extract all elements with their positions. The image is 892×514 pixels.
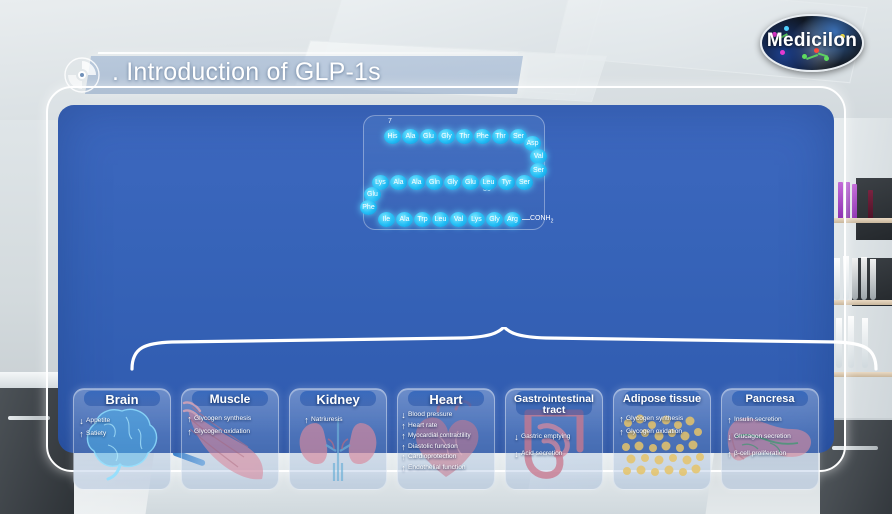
amino-acid-residue: Thr bbox=[492, 129, 509, 144]
item-label: β-cell proliferation bbox=[734, 450, 786, 458]
amino-acid-residue: Gln bbox=[426, 175, 443, 190]
list-item: ↑ β-cell proliferation bbox=[727, 450, 814, 458]
card-items: ↑ Natriuresis bbox=[304, 416, 382, 429]
item-label: Appetite bbox=[86, 417, 110, 425]
arrow-up-icon: ↑ bbox=[401, 453, 406, 461]
item-label: Endothelial function bbox=[408, 464, 466, 472]
item-label: Satiety bbox=[86, 430, 106, 438]
card-items: ↓ Gastric emptying ↓ Acid secretion bbox=[514, 433, 598, 463]
item-label: Heart rate bbox=[408, 422, 437, 430]
card-title: Muscle bbox=[182, 394, 278, 405]
card-title: Heart bbox=[398, 394, 494, 405]
arrow-up-icon: ↑ bbox=[79, 430, 84, 438]
logo-molecule-bond bbox=[806, 54, 818, 60]
arrow-down-icon: ↓ bbox=[514, 433, 519, 441]
terminus-label: CONH bbox=[530, 215, 551, 222]
arrow-down-icon: ↓ bbox=[79, 417, 84, 425]
item-label: Diastolic function bbox=[408, 443, 458, 451]
item-label: Gastric emptying bbox=[521, 433, 570, 441]
list-item: ↑ Glycogen synthesis bbox=[619, 415, 706, 423]
list-item: ↑ Glycogen synthesis bbox=[187, 415, 274, 423]
arrow-up-icon: ↑ bbox=[619, 428, 624, 436]
amino-acid-residue: Ser bbox=[516, 175, 533, 190]
arrow-down-icon: ↓ bbox=[514, 450, 519, 458]
list-item: ↓ Blood pressure bbox=[401, 411, 490, 419]
card-heart[interactable]: Heart ↓ Blood pressure ↑ Heart rate ↑ My… bbox=[397, 388, 495, 490]
arrow-up-icon: ↑ bbox=[727, 416, 732, 424]
arrow-down-icon: ↓ bbox=[727, 433, 732, 441]
card-items: ↓ Appetite ↑ Satiety bbox=[79, 417, 166, 442]
arrow-up-icon: ↑ bbox=[401, 422, 406, 430]
card-title: Pancresa bbox=[722, 394, 818, 405]
terminus-subscript: 2 bbox=[551, 218, 554, 224]
card-kidney[interactable]: Kidney ↑ Natriuresis bbox=[289, 388, 387, 490]
list-item: ↑ Heart rate bbox=[401, 422, 490, 430]
slide-canvas: . Introduction of GLP-1s Medicilon 7 36 … bbox=[0, 0, 892, 514]
list-item: ↓ Appetite bbox=[79, 417, 166, 425]
amino-acid-residue: Ile bbox=[378, 212, 395, 227]
glass-tube bbox=[861, 257, 867, 300]
item-label: Insulin secretion bbox=[734, 416, 782, 424]
logo-text: Medicilon bbox=[762, 30, 862, 52]
logo-molecule-bond bbox=[818, 52, 828, 57]
amino-acid-residue: Val bbox=[530, 149, 547, 164]
item-label: Acid secretion bbox=[521, 450, 562, 458]
peptide-c-terminus: CONH2 bbox=[530, 215, 553, 224]
glp1-peptide-diagram: 7 36 His Ala Glu Gly Thr Phe Thr Ser Asp… bbox=[363, 115, 545, 230]
item-label: Myocardial contractility bbox=[408, 432, 471, 440]
arrow-up-icon: ↑ bbox=[727, 450, 732, 458]
card-muscle[interactable]: Muscle ↑ Glycogen synthesis ↑ Glycogen o… bbox=[181, 388, 279, 490]
arrow-up-icon: ↑ bbox=[304, 416, 309, 424]
arrow-up-icon: ↑ bbox=[619, 415, 624, 423]
amino-acid-residue: Gly bbox=[438, 129, 455, 144]
list-item: ↑ Insulin secretion bbox=[727, 416, 814, 424]
list-item: ↑ Glycogen oxidation bbox=[187, 428, 274, 436]
card-title: Brain bbox=[74, 394, 170, 405]
card-items: ↑ Insulin secretion ↓ Glucagon secretion… bbox=[727, 416, 814, 463]
amino-acid-residue: Thr bbox=[456, 129, 473, 144]
arrow-up-icon: ↑ bbox=[401, 464, 406, 472]
card-gastrointestinal-tract[interactable]: Gastrointestinal tract ↓ Gastric emptyin… bbox=[505, 388, 603, 490]
list-item: ↑ Diastolic function bbox=[401, 443, 490, 451]
amino-acid-residue: His bbox=[384, 129, 401, 144]
peptide-start-number: 7 bbox=[388, 118, 392, 125]
amino-acid-residue: Ser bbox=[530, 163, 547, 178]
item-label: Glycogen synthesis bbox=[626, 415, 683, 423]
amino-acid-residue: Gly bbox=[444, 175, 461, 190]
item-label: Cardioprotection bbox=[408, 453, 456, 461]
card-title: Kidney bbox=[290, 394, 386, 405]
amino-acid-residue: Ala bbox=[396, 212, 413, 227]
list-item: ↓ Glucagon secretion bbox=[727, 433, 814, 441]
medicilon-logo[interactable]: Medicilon bbox=[760, 14, 864, 72]
peptide-terminus-link bbox=[522, 219, 530, 220]
amino-acid-residue: Phe bbox=[360, 200, 377, 215]
amino-acid-residue: Ala bbox=[390, 175, 407, 190]
amino-acid-residue: Glu bbox=[420, 129, 437, 144]
amino-acid-residue: Val bbox=[450, 212, 467, 227]
brace-connector bbox=[128, 327, 880, 371]
card-title: Gastrointestinal tract bbox=[506, 394, 602, 416]
list-item: ↑ Natriuresis bbox=[304, 416, 382, 424]
item-label: Blood pressure bbox=[408, 411, 452, 419]
list-item: ↓ Gastric emptying bbox=[514, 433, 598, 441]
amino-acid-residue: Lys bbox=[468, 212, 485, 227]
reagent-vial bbox=[852, 184, 857, 220]
list-item: ↑ Glycogen oxidation bbox=[619, 428, 706, 436]
amino-acid-residue: Trp bbox=[414, 212, 431, 227]
page-title: . Introduction of GLP-1s bbox=[112, 58, 381, 87]
shelf-recess-1 bbox=[856, 178, 892, 240]
arrow-up-icon: ↑ bbox=[187, 428, 192, 436]
list-item: ↑ Myocardial contractility bbox=[401, 432, 490, 440]
amino-acid-residue: Arg bbox=[504, 212, 521, 227]
reagent-vial bbox=[868, 190, 873, 220]
card-pancreas[interactable]: Pancresa ↑ Insulin secretion ↓ Glucagon … bbox=[721, 388, 819, 490]
amino-acid-residue: Tyr bbox=[498, 175, 515, 190]
glass-tube bbox=[852, 258, 858, 300]
arrow-down-icon: ↓ bbox=[401, 411, 406, 419]
arrow-up-icon: ↑ bbox=[401, 443, 406, 451]
amino-acid-residue: Ala bbox=[402, 129, 419, 144]
card-brain[interactable]: Brain ↓ Appetite ↑ Satiety bbox=[73, 388, 171, 490]
list-item: ↑ Endothelial function bbox=[401, 464, 490, 472]
arrow-up-icon: ↑ bbox=[187, 415, 192, 423]
amino-acid-residue: Leu bbox=[432, 212, 449, 227]
glass-tube bbox=[870, 259, 876, 300]
item-label: Glucagon secretion bbox=[734, 433, 791, 441]
amino-acid-residue: Phe bbox=[474, 129, 491, 144]
item-label: Natriuresis bbox=[311, 416, 343, 424]
item-label: Glycogen oxidation bbox=[626, 428, 682, 436]
item-label: Glycogen oxidation bbox=[194, 428, 250, 436]
amino-acid-residue: Gly bbox=[486, 212, 503, 227]
card-adipose-tissue[interactable]: Adipose tissue ↑ Glycogen synthesis ↑ Gl… bbox=[613, 388, 711, 490]
card-items: ↑ Glycogen synthesis ↑ Glycogen oxidatio… bbox=[619, 415, 706, 440]
list-item: ↓ Acid secretion bbox=[514, 450, 598, 458]
content-panel: 7 36 His Ala Glu Gly Thr Phe Thr Ser Asp… bbox=[58, 105, 834, 453]
amino-acid-residue: Leu bbox=[480, 175, 497, 190]
title-rule bbox=[98, 52, 518, 54]
card-items: ↑ Glycogen synthesis ↑ Glycogen oxidatio… bbox=[187, 415, 274, 440]
list-item: ↑ Satiety bbox=[79, 430, 166, 438]
card-title: Adipose tissue bbox=[614, 394, 710, 405]
amino-acid-residue: Ala bbox=[408, 175, 425, 190]
card-items: ↓ Blood pressure ↑ Heart rate ↑ Myocardi… bbox=[401, 411, 490, 472]
arrow-up-icon: ↑ bbox=[401, 432, 406, 440]
item-label: Glycogen synthesis bbox=[194, 415, 251, 423]
list-item: ↑ Cardioprotection bbox=[401, 453, 490, 461]
amino-acid-residue: Glu bbox=[462, 175, 479, 190]
